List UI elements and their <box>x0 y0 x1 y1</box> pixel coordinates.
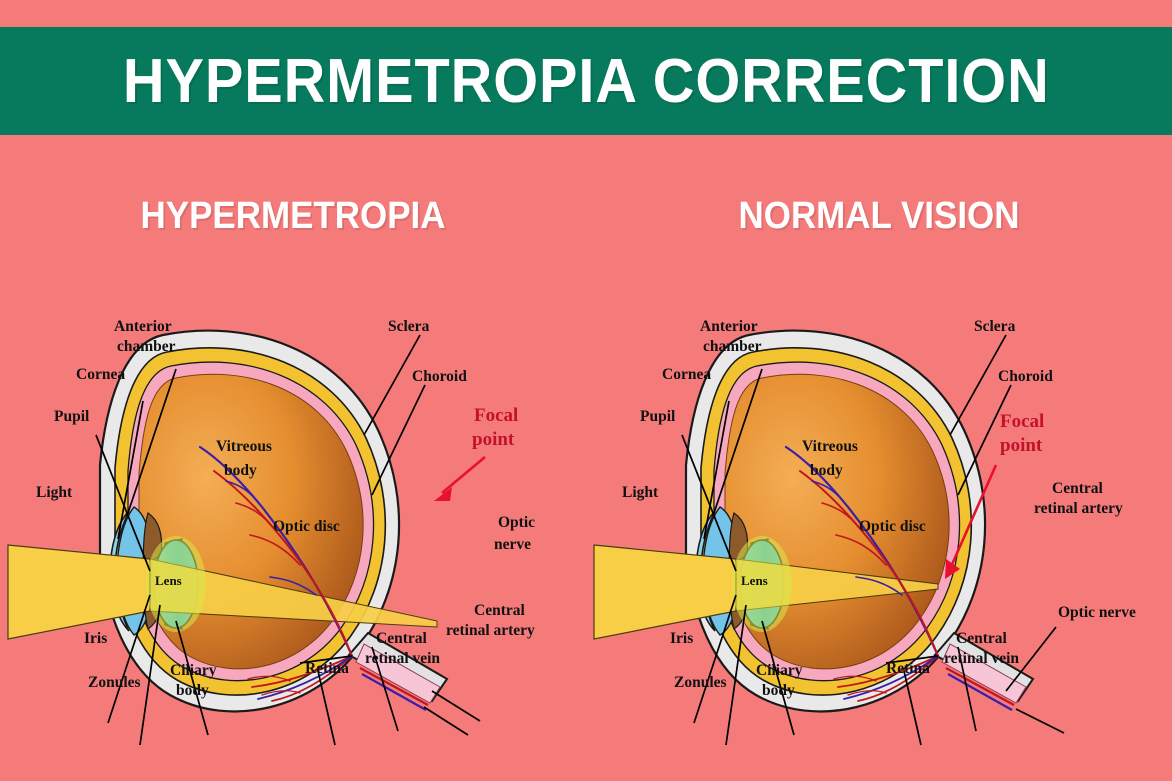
label-choroid: Choroid <box>412 368 467 385</box>
label-anterior-chamber-line1: Anterior <box>114 318 172 335</box>
label-lens: Lens <box>741 573 768 588</box>
label-optic-nerve-line1: Optic <box>498 514 535 531</box>
panels-container: HYPERMETROPIA <box>0 135 1172 781</box>
panel-normal-vision: NORMAL VISION <box>586 135 1172 781</box>
label-central-retinal-artery-line1: Central <box>1052 480 1103 497</box>
label-sclera: Sclera <box>974 318 1016 335</box>
label-anterior-chamber-line2: chamber <box>117 338 176 355</box>
label-lens: Lens <box>155 573 182 588</box>
label-optic-disc: Optic disc <box>859 518 926 535</box>
leader-central-retinal-artery <box>424 707 468 735</box>
label-focal-point-line2: point <box>1000 435 1043 456</box>
label-vitreous-body-line2: body <box>810 462 843 479</box>
label-iris: Iris <box>670 630 693 647</box>
leader-sclera <box>950 335 1006 435</box>
focal-point-arrow-hypermetropia <box>434 457 485 501</box>
label-central-retinal-vein-line2: retinal vein <box>944 650 1019 667</box>
label-iris: Iris <box>84 630 107 647</box>
label-central-retinal-artery-line2: retinal artery <box>446 622 535 639</box>
title-banner: HYPERMETROPIA CORRECTION <box>0 27 1172 135</box>
label-retina: Retina <box>886 660 930 677</box>
label-cornea: Cornea <box>662 366 711 383</box>
label-retina: Retina <box>305 660 349 677</box>
label-optic-nerve-line2: nerve <box>494 536 531 553</box>
panel-hypermetropia: HYPERMETROPIA <box>0 135 586 781</box>
label-vitreous-body-line1: Vitreous <box>216 438 272 455</box>
page-title: HYPERMETROPIA CORRECTION <box>123 46 1050 117</box>
label-light: Light <box>36 484 73 501</box>
leader-sclera <box>364 335 420 435</box>
label-zonules: Zonules <box>674 674 727 691</box>
label-central-retinal-artery-line2: retinal artery <box>1034 500 1123 517</box>
label-choroid: Choroid <box>998 368 1053 385</box>
label-pupil: Pupil <box>54 408 90 425</box>
label-ciliary-body-line2: body <box>176 682 209 699</box>
label-central-retinal-vein-line1: Central <box>376 630 427 647</box>
label-ciliary-body-line2: body <box>762 682 795 699</box>
panel-title-hypermetropia: HYPERMETROPIA <box>23 195 562 238</box>
label-ciliary-body-line1: Ciliary <box>756 662 803 679</box>
label-pupil: Pupil <box>640 408 676 425</box>
label-sclera: Sclera <box>388 318 430 335</box>
leader-optic-nerve <box>1016 709 1064 733</box>
label-focal-point-line2: point <box>472 429 515 450</box>
label-anterior-chamber-line1: Anterior <box>700 318 758 335</box>
label-anterior-chamber-line2: chamber <box>703 338 762 355</box>
label-central-retinal-vein-line2: retinal vein <box>365 650 440 667</box>
label-vitreous-body-line2: body <box>224 462 257 479</box>
label-zonules: Zonules <box>88 674 141 691</box>
label-optic-disc: Optic disc <box>273 518 340 535</box>
label-central-retinal-vein-line1: Central <box>956 630 1007 647</box>
label-focal-point-line1: Focal <box>474 405 518 426</box>
label-ciliary-body-line1: Ciliary <box>170 662 217 679</box>
label-central-retinal-artery-line1: Central <box>474 602 525 619</box>
label-focal-point-line1: Focal <box>1000 411 1044 432</box>
label-optic-nerve: Optic nerve <box>1058 604 1136 621</box>
panel-title-normal-vision: NORMAL VISION <box>609 195 1148 238</box>
label-cornea: Cornea <box>76 366 125 383</box>
label-light: Light <box>622 484 659 501</box>
label-vitreous-body-line1: Vitreous <box>802 438 858 455</box>
